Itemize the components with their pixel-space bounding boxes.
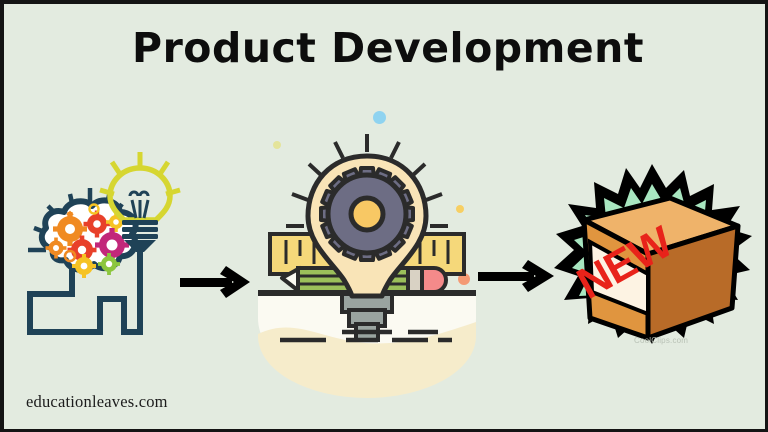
site-footer: educationleaves.com [26, 392, 168, 412]
slide-canvas: Product Development [0, 0, 768, 432]
arrow-right-1 [180, 260, 258, 304]
watermark-text: CoolClips.com [634, 336, 688, 345]
stage-ideation-icon [12, 144, 200, 344]
arrow-right-2 [478, 254, 562, 298]
page-title: Product Development [4, 24, 768, 72]
stage-product-icon: NEW CoolClips.com [552, 162, 756, 362]
stage-design-icon [252, 122, 482, 384]
